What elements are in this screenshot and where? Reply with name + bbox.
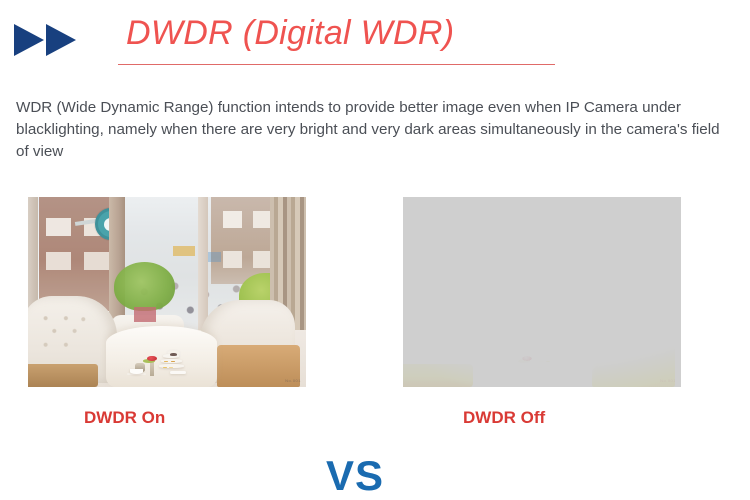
- folded-napkin: [170, 371, 186, 373]
- shop-awning: [548, 246, 570, 256]
- afternoon-tea-stand: [159, 352, 183, 369]
- tea-cup: [505, 369, 517, 373]
- pastry-c: [538, 367, 542, 368]
- teapot: [545, 353, 551, 356]
- teapot: [170, 353, 176, 356]
- feature-description: WDR (Wide Dynamic Range) function intend…: [16, 97, 730, 163]
- red-rose: [522, 356, 532, 361]
- photo-dwdr-on: No.001: [28, 197, 306, 387]
- pastry-d: [169, 367, 173, 368]
- folded-napkin: [545, 371, 561, 373]
- afternoon-tea-stand: [534, 352, 558, 369]
- double-right-arrow-icon: [14, 22, 80, 58]
- page-title: DWDR (Digital WDR): [126, 14, 454, 53]
- photo-dwdr-off: No.001: [403, 197, 681, 387]
- armchair-left-base: [403, 364, 473, 387]
- round-table: [481, 326, 592, 387]
- image-comparison-section: No.001: [0, 190, 750, 440]
- potted-plant: [489, 262, 550, 311]
- plant-pot: [134, 307, 156, 322]
- shop-awning: [173, 246, 195, 256]
- photo-watermark-right: No.001: [660, 378, 676, 383]
- caption-dwdr-off: DWDR Off: [463, 408, 545, 428]
- red-rose: [147, 356, 157, 361]
- photo-watermark-left: No.001: [285, 378, 301, 383]
- armchair-left-base: [28, 364, 98, 387]
- versus-label: VS: [320, 452, 390, 500]
- chair-tufting: [34, 308, 93, 359]
- tea-cup: [130, 369, 142, 373]
- round-table: [106, 326, 217, 387]
- page-header: DWDR (Digital WDR): [0, 0, 750, 78]
- plant-pot: [509, 307, 531, 322]
- title-underline-divider: [118, 64, 555, 65]
- pastry-c: [163, 367, 167, 368]
- pastry-d: [544, 367, 548, 368]
- chair-tufting: [409, 308, 468, 359]
- scene-dwdr-on: No.001: [28, 197, 306, 387]
- caption-dwdr-on: DWDR On: [84, 408, 165, 428]
- potted-plant: [114, 262, 175, 311]
- scene-dwdr-off: No.001: [403, 197, 681, 387]
